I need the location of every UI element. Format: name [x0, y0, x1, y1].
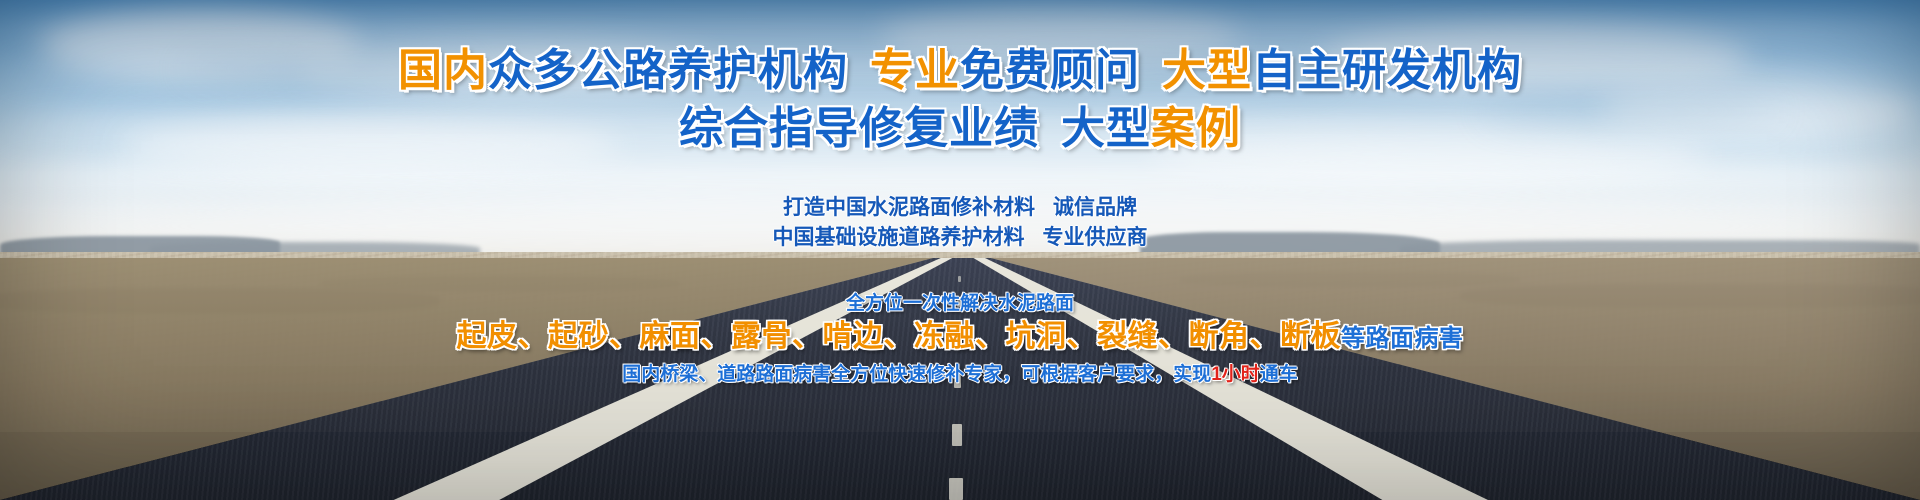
headline-seg-domestic: 国内: [398, 46, 488, 95]
subtext-supplier: 专业供应商: [1043, 226, 1148, 249]
tagline-after: 通车: [1260, 364, 1298, 385]
defect-list-suffix: 等路面病害: [1341, 325, 1464, 352]
headline-seg-guidance: 综合指导修复业绩: [679, 104, 1039, 153]
headline-seg-professional: 专业: [870, 46, 960, 95]
tagline-highlight-one-hour: 1小时: [1211, 364, 1260, 385]
headline-seg-large: 大型: [1061, 104, 1151, 153]
headline-seg-free-consult: 免费顾问: [960, 46, 1140, 95]
subtext-line-2: 中国基础设施道路养护材料专业供应商: [0, 223, 1920, 253]
bottom-tagline: 国内桥梁、道路路面病害全方位快速修补专家，可根据客户要求，实现1小时通车: [0, 362, 1920, 388]
headline-seg-cases: 案例: [1151, 104, 1241, 153]
bottom-defect-list: 起皮、起砂、麻面、露骨、啃边、冻融、坑洞、裂缝、断角、断板等路面病害: [0, 318, 1920, 358]
headline-line-1: 国内众多公路养护机构专业免费顾问大型自主研发机构: [0, 44, 1920, 98]
headline-line-2: 综合指导修复业绩大型案例: [0, 102, 1920, 156]
headline-seg-agencies: 众多公路养护机构: [488, 46, 848, 95]
defect-list-orange: 起皮、起砂、麻面、露骨、啃边、冻融、坑洞、裂缝、断角、断板: [457, 320, 1342, 353]
bottom-lead-text: 全方位一次性解决水泥路面: [0, 292, 1920, 316]
headline-seg-rnd: 自主研发机构: [1252, 46, 1522, 95]
tagline-before: 国内桥梁、道路路面病害全方位快速修补专家，可根据客户要求，实现: [622, 364, 1211, 385]
subtext-trusted-brand: 诚信品牌: [1053, 196, 1137, 219]
promo-banner: 国内众多公路养护机构专业免费顾问大型自主研发机构 综合指导修复业绩大型案例 打造…: [0, 0, 1920, 500]
subtext-brand-material: 打造中国水泥路面修补材料: [783, 196, 1035, 219]
headline-seg-large-scale: 大型: [1162, 46, 1252, 95]
banner-content: 国内众多公路养护机构专业免费顾问大型自主研发机构 综合指导修复业绩大型案例 打造…: [0, 0, 1920, 500]
subtext-line-1: 打造中国水泥路面修补材料诚信品牌: [0, 193, 1920, 223]
subtext-infrastructure-material: 中国基础设施道路养护材料: [773, 226, 1025, 249]
